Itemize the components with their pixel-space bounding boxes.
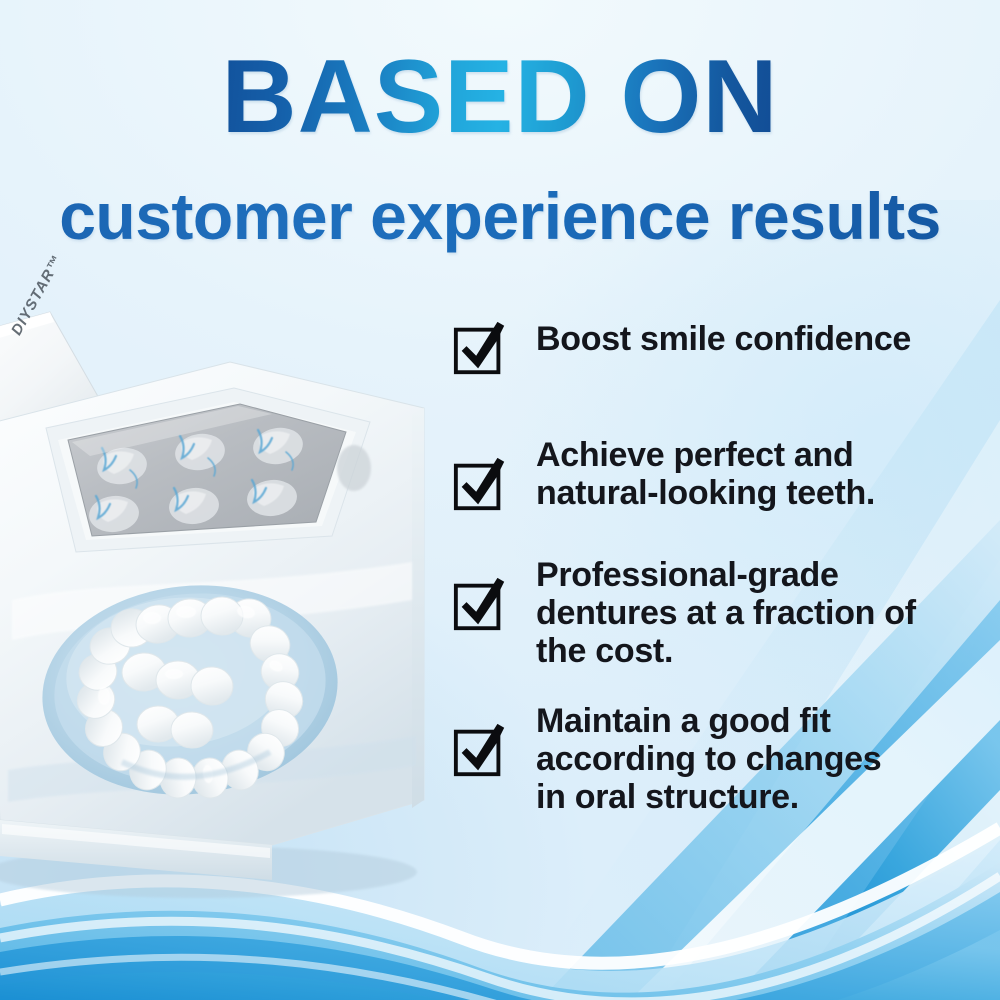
checkbox-svg (452, 320, 510, 378)
checked-checkbox-icon (452, 320, 510, 378)
list-item: Achieve perfect and natural-looking teet… (452, 434, 992, 514)
product-image (0, 300, 442, 900)
checked-checkbox-icon (452, 456, 510, 514)
denture-kit-illustration (0, 300, 442, 900)
list-item-label: Professional-grade dentures at a fractio… (536, 554, 916, 670)
list-item-label: Achieve perfect and natural-looking teet… (536, 434, 875, 512)
checkbox-svg (452, 576, 510, 634)
checked-checkbox-icon (452, 576, 510, 634)
page-title: BASED ON (222, 44, 779, 150)
list-item: Maintain a good fit according to changes… (452, 700, 992, 816)
page-subtitle: customer experience results (0, 178, 1000, 254)
list-item-label: Boost smile confidence (536, 318, 911, 358)
headline-container: BASED ON (0, 44, 1000, 150)
checkbox-svg (452, 722, 510, 780)
list-item: Professional-grade dentures at a fractio… (452, 554, 992, 670)
poster-canvas: BASED ON customer experience results (0, 0, 1000, 1000)
checked-checkbox-icon (452, 722, 510, 780)
list-item-label: Maintain a good fit according to changes… (536, 700, 881, 816)
checkbox-svg (452, 456, 510, 514)
list-item: Boost smile confidence (452, 318, 992, 378)
feature-list: Boost smile confidence Achieve perfect a… (452, 318, 992, 816)
